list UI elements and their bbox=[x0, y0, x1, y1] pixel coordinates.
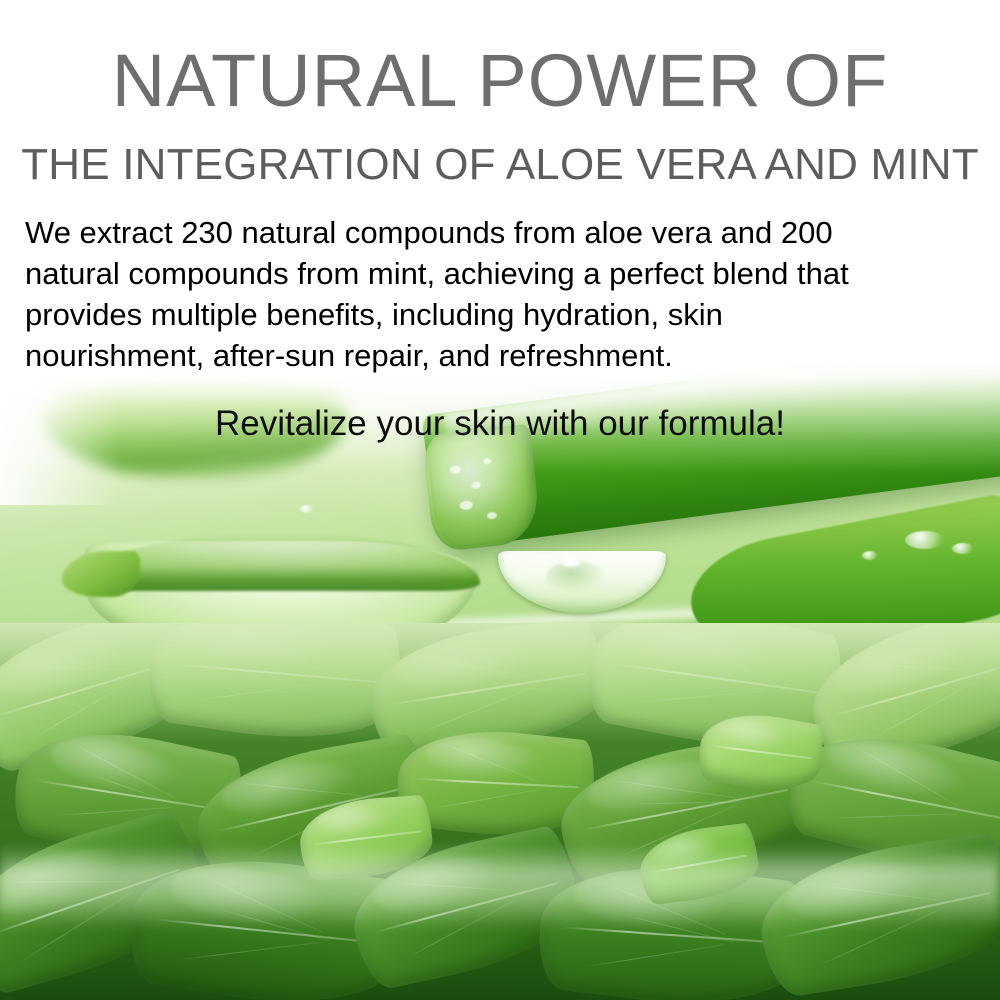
leaf-gloss bbox=[166, 857, 328, 937]
poster-canvas: NATURAL POWER OF THE INTEGRATION OF ALOE… bbox=[0, 0, 1000, 1000]
leaf-vein bbox=[828, 813, 956, 819]
water-bead bbox=[952, 543, 974, 554]
water-bead bbox=[862, 551, 878, 560]
leaf-vein bbox=[193, 682, 327, 702]
water-bead bbox=[905, 531, 945, 549]
page-subtitle: THE INTEGRATION OF ALOE VERA AND MINT bbox=[0, 140, 1000, 190]
body-line: natural compounds from mint, achieving a… bbox=[25, 253, 975, 294]
water-droplet-highlight bbox=[562, 558, 580, 567]
gel-speck bbox=[471, 481, 481, 489]
mint-leaf-bed bbox=[0, 623, 1000, 1000]
water-bead bbox=[300, 505, 314, 513]
leaf-vein bbox=[419, 685, 538, 734]
body-line: We extract 230 natural compounds from al… bbox=[25, 212, 975, 253]
leaf-vein bbox=[585, 944, 725, 968]
poster-copy: NATURAL POWER OF THE INTEGRATION OF ALOE… bbox=[0, 0, 1000, 460]
tagline: Revitalize your skin with our formula! bbox=[0, 402, 1000, 446]
gel-speck bbox=[459, 500, 473, 510]
leaf-gloss bbox=[422, 732, 539, 785]
leaf-vein bbox=[631, 690, 766, 703]
body-line: provides multiple benefits, including hy… bbox=[25, 294, 975, 335]
body-line: nourishment, after-sun repair, and refre… bbox=[25, 335, 975, 376]
leaf-vein bbox=[432, 789, 536, 809]
gel-speck bbox=[450, 465, 462, 474]
body-paragraph: We extract 230 natural compounds from al… bbox=[25, 212, 975, 376]
gel-speck bbox=[487, 512, 498, 520]
leaf-gloss bbox=[181, 623, 332, 677]
page-title: NATURAL POWER OF bbox=[0, 42, 1000, 120]
leaf-vein bbox=[177, 942, 321, 961]
